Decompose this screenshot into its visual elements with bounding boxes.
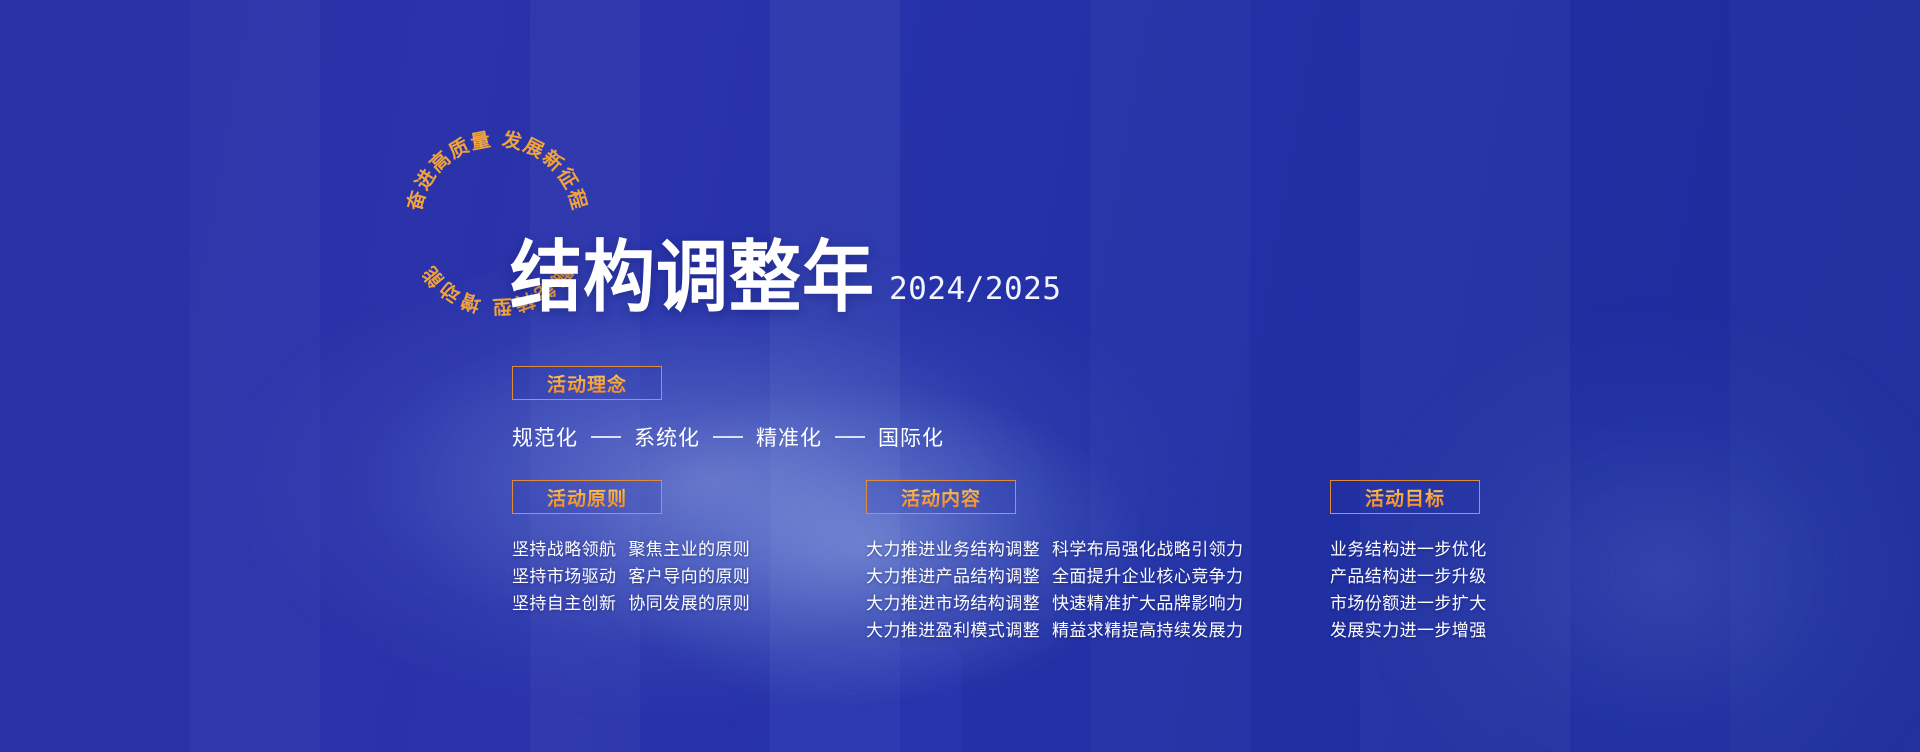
hero-title-row: 结构调整年 2024/2025 bbox=[510, 246, 1062, 314]
list-item-secondary: 科学布局强化战略引领力 bbox=[1052, 536, 1243, 563]
activity-principles-list: 坚持战略领航聚焦主业的原则坚持市场驱动客户导向的原则坚持自主创新协同发展的原则 bbox=[512, 536, 750, 617]
concept-keyword-list: 规范化系统化精准化国际化 bbox=[512, 422, 944, 452]
banner-content: 奋进高质量 发展新征程 赋能转型 增动能 结构调整年 2024/2025 活动理… bbox=[0, 0, 1920, 752]
hero-year-range: 2024/2025 bbox=[889, 271, 1061, 314]
list-item-primary: 大力推进业务结构调整 bbox=[866, 536, 1040, 563]
badge-activity-content-label: 活动内容 bbox=[901, 484, 981, 511]
list-item-primary: 坚持市场驱动 bbox=[512, 563, 616, 590]
list-item: 坚持自主创新协同发展的原则 bbox=[512, 590, 750, 617]
badge-activity-goals-label: 活动目标 bbox=[1365, 484, 1445, 511]
list-item: 大力推进市场结构调整快速精准扩大品牌影响力 bbox=[866, 590, 1243, 617]
list-item-secondary: 精益求精提高持续发展力 bbox=[1052, 617, 1243, 644]
list-item: 大力推进盈利模式调整精益求精提高持续发展力 bbox=[866, 617, 1243, 644]
badge-activity-content[interactable]: 活动内容 bbox=[866, 480, 1016, 514]
concept-separator bbox=[835, 436, 865, 438]
list-item: 坚持市场驱动客户导向的原则 bbox=[512, 563, 750, 590]
badge-activity-principles-label: 活动原则 bbox=[547, 484, 627, 511]
list-item: 市场份额进一步扩大 bbox=[1330, 590, 1487, 617]
badge-activity-concept-label: 活动理念 bbox=[547, 370, 627, 397]
concept-keyword: 规范化 bbox=[512, 422, 578, 452]
list-item: 大力推进业务结构调整科学布局强化战略引领力 bbox=[866, 536, 1243, 563]
column-activity-principles: 活动原则 坚持战略领航聚焦主业的原则坚持市场驱动客户导向的原则坚持自主创新协同发… bbox=[512, 480, 750, 617]
list-item-secondary: 全面提升企业核心竞争力 bbox=[1052, 563, 1243, 590]
list-item-secondary: 客户导向的原则 bbox=[628, 563, 750, 590]
column-activity-goals: 活动目标 业务结构进一步优化产品结构进一步升级市场份额进一步扩大发展实力进一步增… bbox=[1330, 480, 1487, 644]
list-item: 坚持战略领航聚焦主业的原则 bbox=[512, 536, 750, 563]
emblem-arc-top-text: 奋进高质量 发展新征程 bbox=[404, 130, 590, 214]
activity-content-list: 大力推进业务结构调整科学布局强化战略引领力大力推进产品结构调整全面提升企业核心竞… bbox=[866, 536, 1243, 644]
list-item-primary: 大力推进市场结构调整 bbox=[866, 590, 1040, 617]
badge-activity-goals[interactable]: 活动目标 bbox=[1330, 480, 1480, 514]
concept-keyword: 精准化 bbox=[756, 422, 822, 452]
list-item-primary: 产品结构进一步升级 bbox=[1330, 563, 1487, 590]
page-title: 结构调整年 bbox=[510, 241, 875, 315]
list-item-secondary: 快速精准扩大品牌影响力 bbox=[1052, 590, 1243, 617]
list-item: 大力推进产品结构调整全面提升企业核心竞争力 bbox=[866, 563, 1243, 590]
concept-separator bbox=[591, 436, 621, 438]
list-item-primary: 发展实力进一步增强 bbox=[1330, 617, 1487, 644]
badge-activity-principles[interactable]: 活动原则 bbox=[512, 480, 662, 514]
badge-activity-concept[interactable]: 活动理念 bbox=[512, 366, 662, 400]
list-item-secondary: 协同发展的原则 bbox=[628, 590, 750, 617]
activity-goals-list: 业务结构进一步优化产品结构进一步升级市场份额进一步扩大发展实力进一步增强 bbox=[1330, 536, 1487, 644]
concept-keyword: 系统化 bbox=[634, 422, 700, 452]
list-item: 业务结构进一步优化 bbox=[1330, 536, 1487, 563]
list-item: 发展实力进一步增强 bbox=[1330, 617, 1487, 644]
list-item-primary: 业务结构进一步优化 bbox=[1330, 536, 1487, 563]
list-item-secondary: 聚焦主业的原则 bbox=[628, 536, 750, 563]
concept-separator bbox=[713, 436, 743, 438]
promo-banner: 奋进高质量 发展新征程 赋能转型 增动能 结构调整年 2024/2025 活动理… bbox=[0, 0, 1920, 752]
list-item-primary: 坚持自主创新 bbox=[512, 590, 616, 617]
concept-block: 活动理念 规范化系统化精准化国际化 bbox=[512, 366, 944, 452]
column-activity-content: 活动内容 大力推进业务结构调整科学布局强化战略引领力大力推进产品结构调整全面提升… bbox=[866, 480, 1243, 644]
concept-keyword: 国际化 bbox=[878, 422, 944, 452]
list-item-primary: 大力推进盈利模式调整 bbox=[866, 617, 1040, 644]
list-item-primary: 市场份额进一步扩大 bbox=[1330, 590, 1487, 617]
list-item-primary: 大力推进产品结构调整 bbox=[866, 563, 1040, 590]
list-item: 产品结构进一步升级 bbox=[1330, 563, 1487, 590]
list-item-primary: 坚持战略领航 bbox=[512, 536, 616, 563]
